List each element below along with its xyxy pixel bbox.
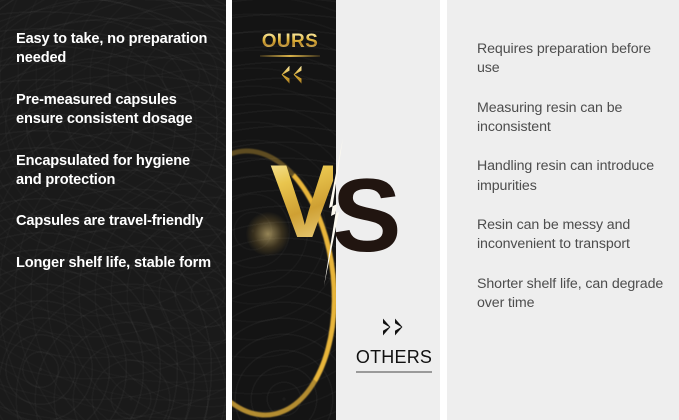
chevron-left-icon [291, 66, 302, 84]
ours-panel: Easy to take, no preparation needed Pre-… [0, 0, 226, 420]
double-chevron-left-icon [248, 66, 332, 84]
list-item: Longer shelf life, stable form [16, 254, 214, 273]
list-item: Resin can be messy and inconvenient to t… [477, 216, 667, 255]
others-underline [356, 371, 432, 373]
double-chevron-right-icon [348, 318, 440, 336]
others-panel: Requires preparation before use Measurin… [447, 0, 679, 420]
list-item: Measuring resin can be inconsistent [477, 99, 667, 138]
panel-divider-right [440, 0, 447, 420]
ours-underline [260, 55, 320, 57]
chevron-right-icon [383, 318, 394, 336]
chevron-left-icon [279, 66, 290, 84]
versus-graphic: V S [270, 150, 420, 270]
ours-benefit-list: Easy to take, no preparation needed Pre-… [16, 30, 214, 295]
others-badge: OTHERS [348, 318, 440, 373]
lightning-bolt-icon [320, 138, 352, 286]
list-item: Capsules are travel-friendly [16, 212, 214, 231]
others-label: OTHERS [348, 348, 440, 366]
ours-badge: OURS [248, 32, 332, 84]
others-drawback-list: Requires preparation before use Measurin… [477, 40, 667, 333]
list-item: Pre-measured capsules ensure consistent … [16, 91, 214, 130]
ours-label: OURS [248, 32, 332, 51]
list-item: Easy to take, no preparation needed [16, 30, 214, 69]
list-item: Encapsulated for hygiene and protection [16, 152, 214, 191]
list-item: Shorter shelf life, can degrade over tim… [477, 275, 667, 314]
chevron-right-icon [395, 318, 406, 336]
list-item: Requires preparation before use [477, 40, 667, 79]
list-item: Handling resin can introduce impurities [477, 157, 667, 196]
comparison-infographic: Easy to take, no preparation needed Pre-… [0, 0, 679, 420]
